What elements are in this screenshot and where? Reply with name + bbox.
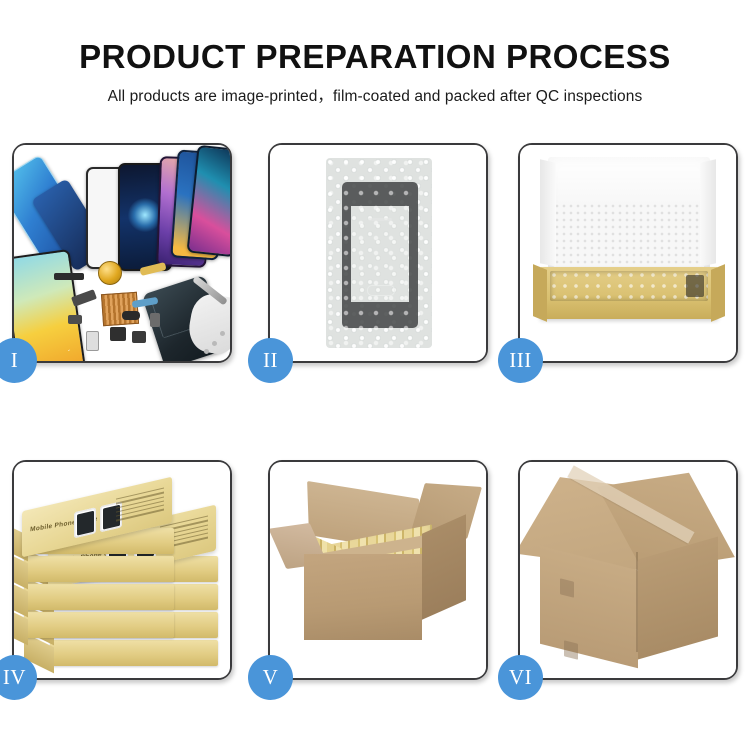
home-button-icon	[367, 285, 395, 296]
carton-side-face-icon	[422, 514, 466, 620]
step-panel-6: VI	[518, 460, 738, 680]
step-image-stacked-retail-boxes: Mobile Phone Spare Parts Mobile Phone Sp…	[14, 462, 230, 678]
foam-flap-left-icon	[540, 159, 556, 266]
carton-edge-seam	[636, 552, 638, 652]
vibration-motor-part-icon	[122, 311, 140, 320]
screw-icon	[212, 341, 217, 346]
wrapped-screen-in-tray-icon	[550, 271, 708, 301]
step-badge-6: VI	[498, 655, 543, 700]
step-image-bubble-wrapped-screen	[270, 145, 486, 361]
earpiece-icon	[368, 218, 392, 221]
carton-front-face-icon	[304, 554, 422, 640]
step-badge-3: III	[498, 338, 543, 383]
screw-icon	[204, 349, 209, 354]
step-badge-5: V	[248, 655, 293, 700]
bubble-wrap-icon	[326, 158, 432, 348]
step-image-sealed-shipping-carton	[520, 462, 736, 678]
screw-icon	[220, 331, 225, 336]
carton-hand-hole-icon	[560, 578, 574, 597]
box-spec-lines	[116, 488, 164, 527]
kraft-tray-icon	[540, 267, 718, 319]
process-steps-grid: I II III	[0, 0, 750, 750]
sim-tray-part-icon	[86, 331, 99, 351]
box-phone-image-icon	[74, 507, 96, 538]
step-badge-1: I	[0, 338, 37, 383]
carton-hand-hole-icon	[564, 640, 578, 659]
step-panel-4: Mobile Phone Spare Parts Mobile Phone Sp…	[12, 460, 232, 680]
speaker-part-icon	[132, 331, 146, 343]
retail-box-body	[24, 556, 174, 582]
step-badge-2: II	[248, 338, 293, 383]
retail-box-body	[24, 584, 174, 610]
retail-box-body	[24, 612, 174, 638]
step-panel-2: II	[268, 143, 488, 363]
retail-box-body	[50, 640, 218, 666]
step-image-parts-collage	[14, 145, 230, 361]
camera-module-part-icon	[110, 327, 126, 341]
step-panel-1: I	[12, 143, 232, 363]
step-badge-4: IV	[0, 655, 37, 700]
step-panel-3: III	[518, 143, 738, 363]
gold-coil-part-icon	[98, 261, 122, 285]
step-image-boxed-screen-with-foam	[520, 145, 736, 361]
carton-side-face-icon	[638, 537, 718, 660]
step-panel-5: V	[268, 460, 488, 680]
foam-lid-icon	[548, 157, 710, 275]
phone-glass-icon	[342, 182, 418, 328]
connector-bar-part-icon	[54, 273, 84, 280]
copper-chip-grid-icon	[101, 292, 139, 326]
battery-connector-part-icon	[150, 313, 160, 327]
step-image-open-shipping-carton	[270, 462, 486, 678]
shield-plate-part-icon	[68, 315, 82, 324]
foam-flap-right-icon	[700, 159, 716, 266]
